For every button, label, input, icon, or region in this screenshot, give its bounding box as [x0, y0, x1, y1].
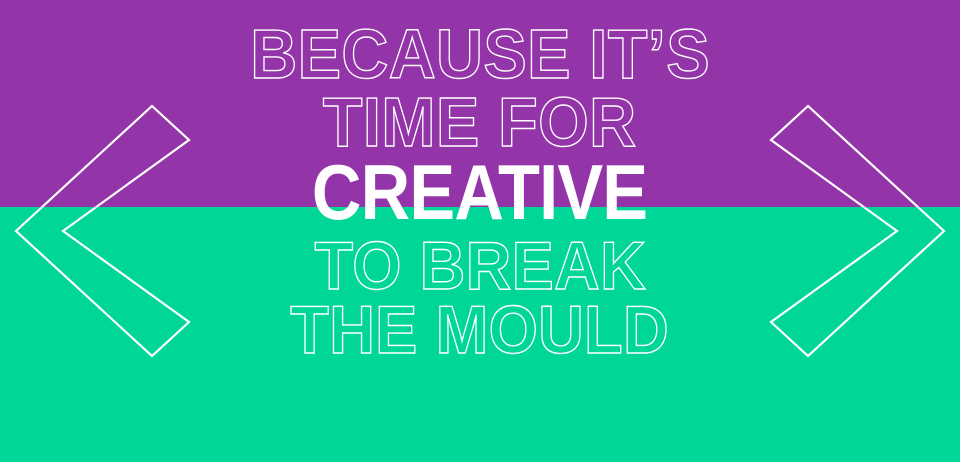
promo-banner: BECAUSE IT’S TIME FOR CREATIVE TO BREAK …: [0, 0, 960, 462]
headline-line-1: BECAUSE IT’S: [250, 22, 710, 86]
headline-line-2: TIME FOR: [323, 90, 637, 154]
headline-line-4: TO BREAK: [314, 235, 646, 298]
headline-block: BECAUSE IT’S TIME FOR CREATIVE TO BREAK …: [0, 0, 960, 462]
headline-line-5: THE MOULD: [291, 299, 670, 362]
headline-line-3-emphasis: CREATIVE: [312, 157, 647, 229]
